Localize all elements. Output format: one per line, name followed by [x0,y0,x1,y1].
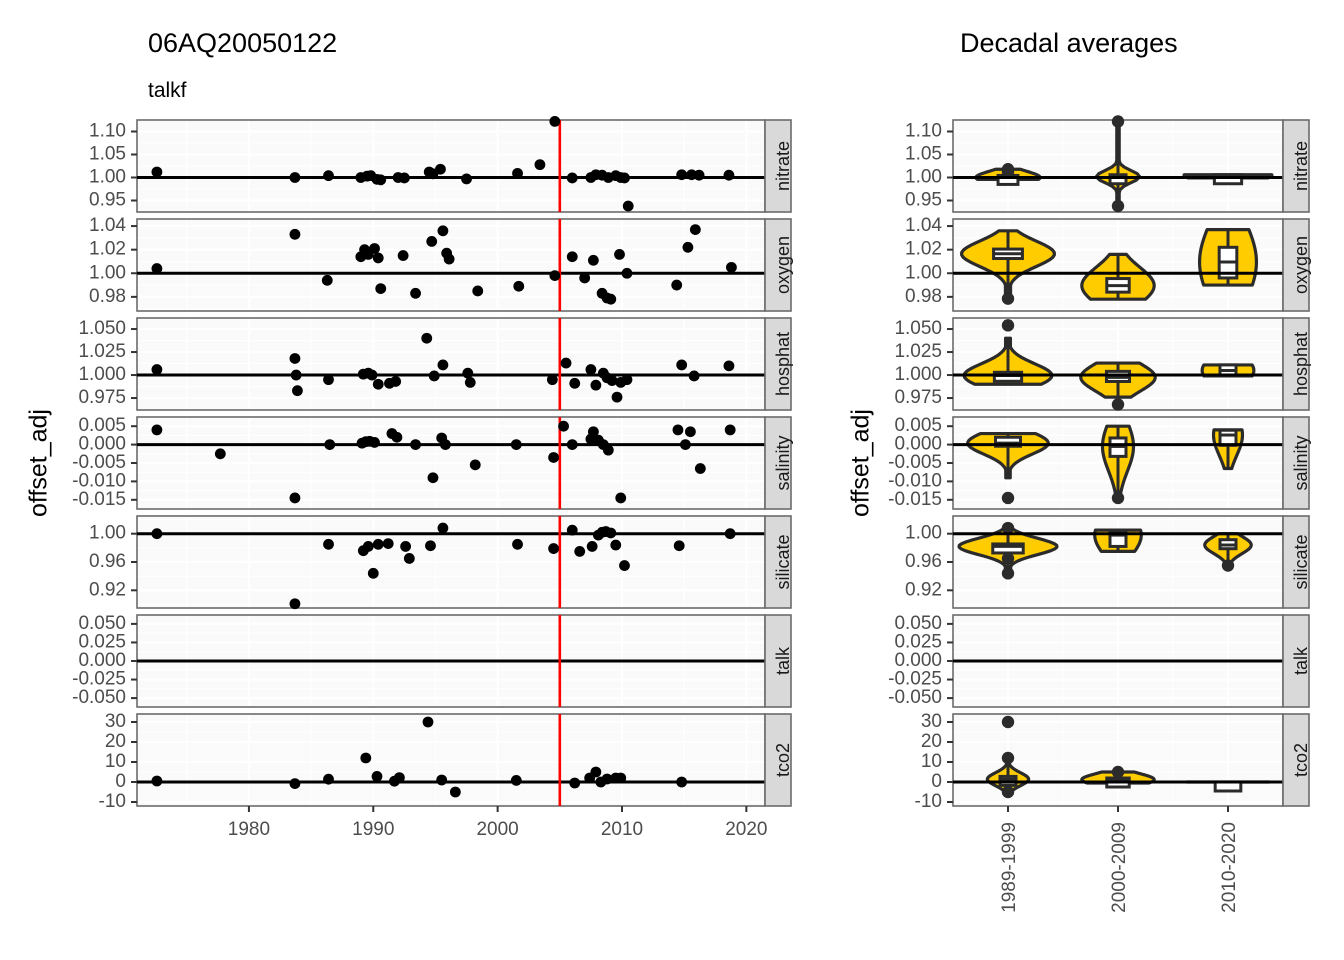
y-tick-label: -0.010 [72,470,126,491]
data-point [676,360,687,371]
y-tick-label: 1.05 [905,144,942,165]
data-point [421,333,432,344]
data-point [619,173,630,184]
data-point [676,777,687,788]
data-point [323,374,334,385]
y-tick-label: 1.02 [89,239,126,260]
y-tick-label: -10 [915,791,942,812]
y-tick-label: 0.92 [905,579,942,600]
y-tick-label: 1.00 [905,262,942,283]
data-point [291,370,302,381]
x-tick-label: 2020 [725,819,767,840]
x-tick-label: 1980 [228,819,270,840]
data-point [558,421,569,432]
y-tick-label: 0.96 [89,551,126,572]
data-point [151,776,162,787]
y-tick-label: 0.000 [78,434,126,455]
data-point [588,255,599,266]
data-point [615,773,626,784]
data-point [605,528,616,539]
facet-strip-tco2: tco2 [765,714,793,806]
facet-strip-hosphat: hosphat [765,318,793,410]
y-tick-label: 0.025 [894,631,942,652]
y-tick-label: 0.92 [89,579,126,600]
y-tick-label: -0.025 [888,669,942,690]
right-plot-title: Decadal averages [960,28,1178,58]
right-facet-hosphat: 0.9751.0001.0251.050hosphat [894,318,1310,411]
right-facet-tco2: -1001020301989-19992000-20092010-2020tco… [915,711,1311,913]
boxplot-outlier [1002,567,1014,579]
data-point [623,201,634,212]
strip-label: hosphat [773,332,793,396]
data-point [726,262,737,273]
right-facet-silicate: 0.920.961.00silicate [905,516,1311,608]
y-tick-label: 0.98 [905,286,942,307]
data-point [511,775,522,786]
data-point [360,753,371,764]
strip-label: tco2 [1291,743,1311,777]
y-tick-label: 30 [105,711,126,732]
y-tick-label: 0.000 [78,650,126,671]
data-point [438,225,449,236]
data-point [215,448,226,459]
y-tick-label: -0.005 [888,452,942,473]
data-point [375,174,386,185]
y-tick-label: 1.02 [905,239,942,260]
y-tick-label: 0.975 [78,387,126,408]
data-point [151,167,162,178]
data-point [399,173,410,184]
left-plot-title: 06AQ20050122 [148,28,337,58]
strip-label: salinity [773,435,793,490]
boxplot-outlier [1112,200,1124,212]
data-point [610,540,621,551]
left-facet-tco2: -10010203019801990200020102020tco2 [99,711,793,840]
y-tick-label: 0 [115,771,126,792]
y-tick-label: -0.050 [72,687,126,708]
y-tick-label: 20 [105,731,126,752]
strip-label: talk [773,646,793,675]
y-tick-label: -0.005 [72,452,126,473]
facet-strip-tco2: tco2 [1283,714,1311,806]
data-point [290,172,301,183]
strip-label: hosphat [1291,332,1311,396]
y-tick-label: 0.95 [89,190,126,211]
data-point [567,439,578,450]
y-tick-label: 1.00 [89,523,126,544]
data-point [569,378,580,389]
left-plot-subtitle: talkf [148,79,187,102]
y-tick-label: 0.050 [894,613,942,634]
data-point [367,370,378,381]
data-point [548,543,559,554]
data-point [694,170,705,181]
x-category-label: 2010-2020 [1219,822,1240,913]
data-point [567,525,578,536]
data-point [724,170,735,181]
data-point [674,540,685,551]
x-tick-label: 2000 [476,819,518,840]
boxplot-outlier [1112,398,1124,410]
data-point [394,772,405,783]
y-tick-label: 1.025 [894,341,942,362]
left-facet-salinity: -0.015-0.010-0.0050.0000.005salinity [72,415,793,510]
data-point [695,463,706,474]
data-point [567,251,578,262]
data-point [438,360,449,371]
data-point [512,539,523,550]
data-point [587,541,598,552]
data-point [436,775,447,786]
data-point [569,778,580,789]
x-category-label: 1989-1999 [999,822,1020,913]
data-point [383,538,394,549]
y-tick-label: -0.015 [72,489,126,510]
data-point [590,380,601,391]
data-point [511,439,522,450]
data-point [586,364,597,375]
data-point [472,286,483,297]
boxplot-outlier [1002,492,1014,504]
boxplot-outlier [1002,716,1014,728]
left-y-axis-label: offset_adj [25,409,53,517]
data-point [392,432,403,443]
y-tick-label: 0.025 [78,631,126,652]
data-point [622,268,633,279]
y-tick-label: 0.000 [894,434,942,455]
y-tick-label: 10 [921,751,942,772]
boxplot-outlier [1112,115,1124,127]
y-tick-label: 1.000 [894,364,942,385]
y-tick-label: 0.975 [894,387,942,408]
y-tick-label: 0 [931,771,942,792]
y-tick-label: 1.10 [905,121,942,142]
data-point [404,553,415,564]
data-point [724,360,735,371]
data-point [398,250,409,261]
y-tick-label: -0.050 [888,687,942,708]
strip-label: oxygen [1291,236,1311,294]
data-point [682,242,693,253]
data-point [373,539,384,550]
data-point [450,787,461,798]
y-tick-label: -0.010 [888,470,942,491]
data-point [151,364,162,375]
y-tick-label: 1.050 [894,318,942,339]
data-point [548,452,559,463]
y-tick-label: 0.005 [894,415,942,436]
right-facet-talk: -0.050-0.0250.0000.0250.050talk [888,613,1311,708]
x-category-label: 2000-2009 [1109,822,1130,913]
data-point [567,173,578,184]
facet-strip-salinity: salinity [765,417,793,509]
data-point [603,445,614,456]
data-point [410,439,421,450]
y-tick-label: 0.005 [78,415,126,436]
facet-strip-talk: talk [1283,615,1311,707]
boxplot-box [1220,430,1236,445]
data-point [725,424,736,435]
y-tick-label: 1.00 [905,167,942,188]
boxplot-outlier [1002,752,1014,764]
facet-strip-oxygen: oxygen [1283,219,1311,311]
data-point [323,170,334,181]
data-point [151,528,162,539]
data-point [612,392,623,403]
data-point [290,598,301,609]
left-facet-silicate: 0.920.961.00silicate [89,516,793,609]
data-point [579,273,590,284]
facet-strip-talk: talk [765,615,793,707]
data-point [574,546,585,557]
data-point [619,560,630,571]
strip-label: talk [1291,646,1311,675]
data-point [373,253,384,264]
data-point [549,270,560,281]
data-point [423,717,434,728]
strip-label: silicate [1291,534,1311,589]
data-point [615,493,626,504]
data-point [622,374,633,385]
data-point [390,376,401,387]
data-point [372,771,383,782]
data-point [290,493,301,504]
strip-label: silicate [773,534,793,589]
data-point [292,385,303,396]
data-point [323,539,334,550]
y-tick-label: 0.050 [78,613,126,634]
data-point [462,368,473,379]
y-tick-label: 0.96 [905,551,942,572]
data-point [561,358,572,369]
boxplot-outlier [1222,559,1234,571]
data-point [676,169,687,180]
x-tick-label: 1990 [352,819,394,840]
data-point [690,224,701,235]
figure-svg: 06AQ20050122talkfDecadal averagesoffset_… [0,0,1344,960]
violin-2010-2020 [1200,230,1257,285]
data-point [426,236,437,247]
data-point [673,424,684,435]
data-point [685,426,696,437]
data-point [400,541,411,552]
facet-strip-oxygen: oxygen [765,219,793,311]
facet-strip-nitrate: nitrate [1283,120,1311,212]
data-point [444,254,455,265]
data-point [363,541,374,552]
data-point [323,774,334,785]
y-tick-label: 0.95 [905,190,942,211]
data-point [373,379,384,390]
data-point [290,353,301,364]
facet-strip-nitrate: nitrate [765,120,793,212]
data-point [535,159,546,170]
y-tick-label: 1.10 [89,121,126,142]
data-point [438,523,449,534]
boxplot-outlier [1002,319,1014,331]
y-tick-label: 1.000 [78,364,126,385]
data-point [512,168,523,179]
data-point [428,472,439,483]
boxplot-outlier [1002,292,1014,304]
data-point [369,243,380,254]
y-tick-label: 1.00 [905,523,942,544]
boxplot-outlier [1002,786,1014,798]
right-y-axis-label: offset_adj [847,409,875,517]
left-facet-oxygen: 0.981.001.021.04oxygen [89,215,793,311]
data-point [513,281,524,292]
data-point [290,778,301,789]
strip-label: salinity [1291,435,1311,490]
boxplot-outlier [1002,552,1014,564]
boxplot-outlier [1112,492,1124,504]
left-facet-nitrate: 0.951.001.051.10nitrate [89,116,793,212]
data-point [547,374,558,385]
facet-strip-salinity: salinity [1283,417,1311,509]
data-point [151,263,162,274]
data-point [470,459,481,470]
right-facet-salinity: -0.015-0.010-0.0050.0000.005salinity [888,415,1311,510]
y-tick-label: -0.025 [72,669,126,690]
data-point [375,283,386,294]
strip-label: oxygen [773,236,793,294]
y-tick-label: 1.00 [89,262,126,283]
facet-strip-silicate: silicate [1283,516,1311,608]
strip-label: nitrate [773,141,793,191]
data-point [590,767,601,778]
data-point [425,540,436,551]
y-tick-label: 1.050 [78,318,126,339]
y-tick-label: 0.000 [894,650,942,671]
facet-strip-hosphat: hosphat [1283,318,1311,410]
y-tick-label: -10 [99,791,126,812]
data-point [605,294,616,305]
data-point [440,439,451,450]
y-tick-label: -0.015 [888,489,942,510]
boxplot-outlier [1112,766,1124,778]
y-tick-label: 1.025 [78,341,126,362]
data-point [429,371,440,382]
facet-strip-silicate: silicate [765,516,793,608]
strip-label: tco2 [773,743,793,777]
left-facet-talk: -0.050-0.0250.0000.0250.050talk [72,613,793,708]
data-point [465,377,476,388]
y-tick-label: 0.98 [89,286,126,307]
y-tick-label: 1.05 [89,144,126,165]
data-point [410,288,421,299]
left-facet-hosphat: 0.9751.0001.0251.050hosphat [78,318,792,410]
y-tick-label: 1.04 [905,215,942,236]
data-point [322,275,333,286]
data-point [290,229,301,240]
right-facet-nitrate: 0.951.001.051.10nitrate [905,115,1311,212]
data-point [549,116,560,127]
strip-label: nitrate [1291,141,1311,191]
y-tick-label: 1.00 [89,167,126,188]
x-tick-label: 2010 [601,819,643,840]
data-point [435,164,446,175]
right-facet-oxygen: 0.981.001.021.04oxygen [905,215,1311,311]
data-point [369,437,380,448]
y-tick-label: 10 [105,751,126,772]
data-point [689,371,700,382]
data-point [151,424,162,435]
y-tick-label: 20 [921,731,942,752]
data-point [680,439,691,450]
figure-root: 06AQ20050122talkfDecadal averagesoffset_… [0,0,1344,960]
data-point [324,439,335,450]
y-tick-label: 30 [921,711,942,732]
data-point [368,568,379,579]
data-point [725,528,736,539]
data-point [461,173,472,184]
data-point [671,280,682,291]
data-point [614,249,625,260]
y-tick-label: 1.04 [89,215,126,236]
